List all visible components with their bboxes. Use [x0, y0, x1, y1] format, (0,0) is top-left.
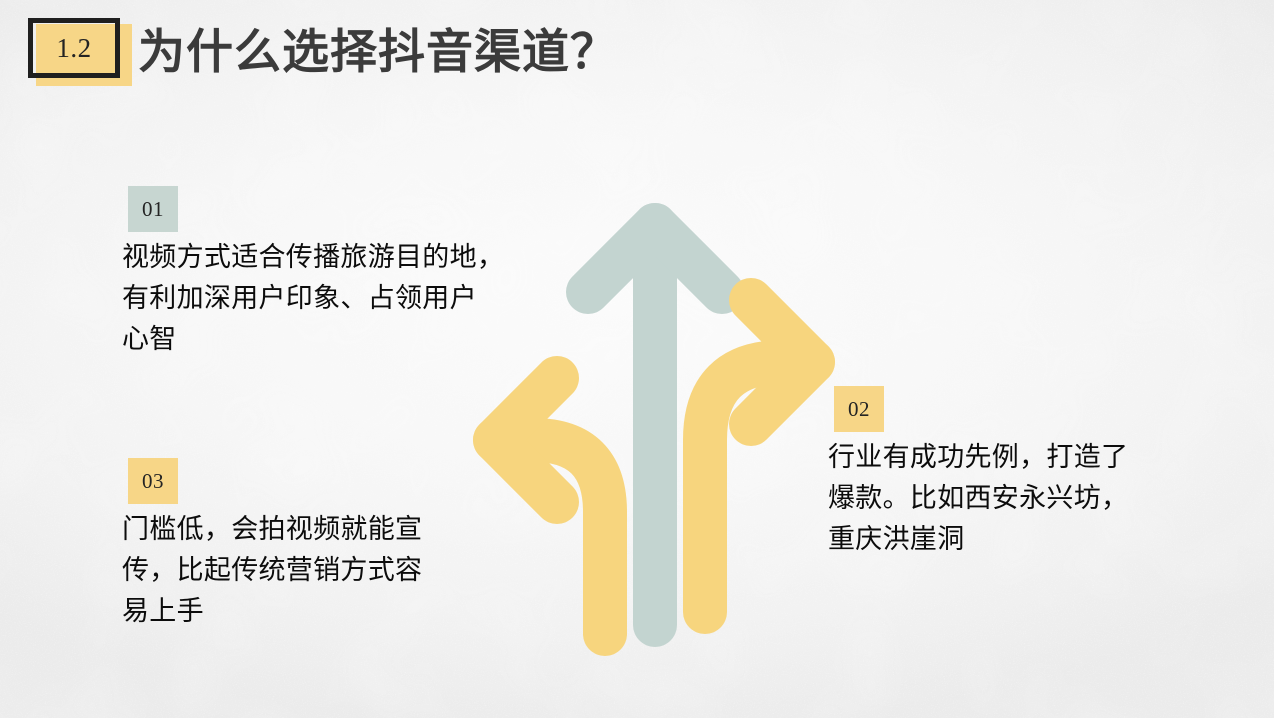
info-block-03: 03 门槛低，会拍视频就能宣 传，比起传统营销方式容 易上手 — [122, 458, 522, 632]
section-number: 1.2 — [28, 18, 120, 78]
block-text-02: 行业有成功先例，打造了 爆款。比如西安永兴坊， 重庆洪崖洞 — [828, 437, 1228, 560]
block-text-01: 视频方式适合传播旅游目的地， 有利加深用户印象、占领用户 心智 — [122, 237, 592, 360]
page-title: 为什么选择抖音渠道？ — [138, 17, 618, 87]
info-block-01: 01 视频方式适合传播旅游目的地， 有利加深用户印象、占领用户 心智 — [122, 186, 592, 360]
block-number-02: 02 — [834, 386, 884, 432]
info-block-02: 02 行业有成功先例，打造了 爆款。比如西安永兴坊， 重庆洪崖洞 — [828, 386, 1228, 560]
block-number-03: 03 — [128, 458, 178, 504]
block-number-01: 01 — [128, 186, 178, 232]
slide-header: 1.2 为什么选择抖音渠道？ — [0, 0, 1274, 110]
block-text-03: 门槛低，会拍视频就能宣 传，比起传统营销方式容 易上手 — [122, 509, 522, 632]
slide-canvas: 1.2 为什么选择抖音渠道？ 01 视频方式适合传播旅游目的地， 有利加深用户印… — [0, 0, 1274, 718]
curved-arrow-right — [705, 300, 813, 612]
